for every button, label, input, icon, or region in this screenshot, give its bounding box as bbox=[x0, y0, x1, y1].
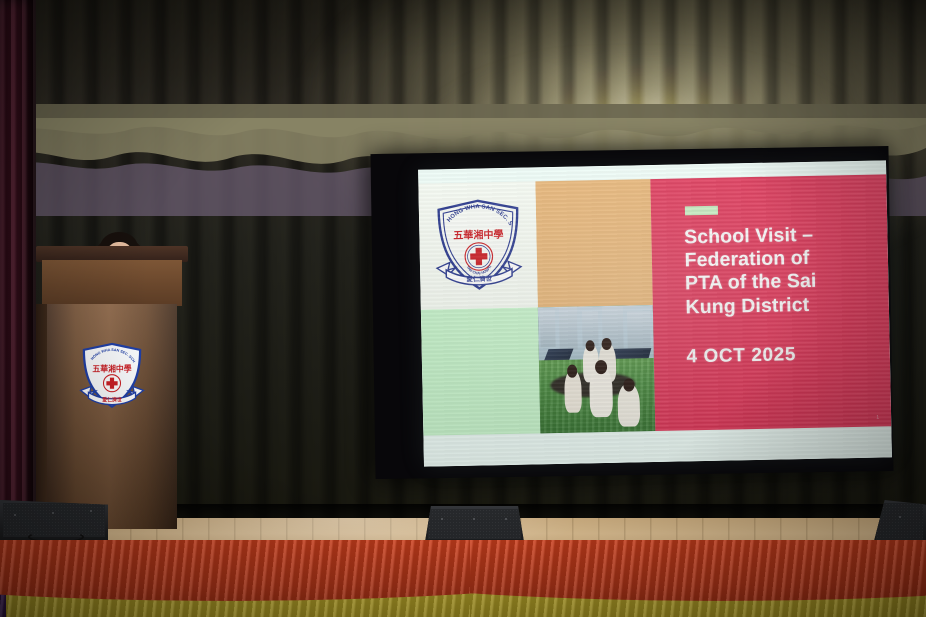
podium: HONG WHA SAN SEC. SCHOOL 五華湘中學 愛仁濟世 bbox=[36, 246, 188, 536]
stage-skirt-drape bbox=[0, 540, 926, 617]
slide-green-block bbox=[421, 307, 541, 435]
stage-monitor-center bbox=[425, 506, 524, 542]
podium-upper-panel bbox=[42, 260, 182, 306]
presentation-slide: HONG WHA SAN SEC. SCHOOL 五華湘中學 YAN CHAI … bbox=[418, 160, 892, 466]
podium-school-crest-icon: HONG WHA SAN SEC. SCHOOL 五華湘中學 愛仁濟世 bbox=[78, 342, 146, 410]
stage-photo-scene: HONG WHA SAN SEC. SCHOOL 五華湘中學 YAN CHAI … bbox=[0, 0, 926, 617]
slide-left-column: HONG WHA SAN SEC. SCHOOL 五華湘中學 YAN CHAI … bbox=[418, 181, 540, 435]
slide-accent-bar bbox=[685, 206, 718, 216]
svg-text:五華湘中學: 五華湘中學 bbox=[453, 228, 503, 242]
slide-title-panel: School Visit –Federation ofPTA of the Sa… bbox=[650, 174, 891, 431]
photo-building bbox=[627, 311, 651, 348]
photo-student-head bbox=[595, 360, 607, 374]
photo-student-head bbox=[567, 365, 578, 378]
slide-middle-column bbox=[535, 179, 655, 433]
projection-screen-surface: HONG WHA SAN SEC. SCHOOL 五華湘中學 YAN CHAI … bbox=[418, 160, 892, 466]
slide-rooftop-photo bbox=[538, 305, 655, 433]
photo-building bbox=[558, 307, 577, 350]
podium-front-panel bbox=[47, 304, 177, 529]
slide-tan-block bbox=[535, 179, 652, 307]
photo-building bbox=[540, 310, 556, 348]
slide-page-number: 1 bbox=[876, 415, 879, 421]
slide-title: School Visit –Federation ofPTA of the Sa… bbox=[684, 223, 879, 320]
svg-text:五華湘中學: 五華湘中學 bbox=[92, 363, 131, 373]
side-curtain-maroon bbox=[0, 0, 36, 545]
school-crest-icon: HONG WHA SAN SEC. SCHOOL 五華湘中學 YAN CHAI … bbox=[431, 197, 525, 294]
photo-student-head bbox=[623, 379, 635, 392]
slide-date: 4 OCT 2025 bbox=[686, 344, 796, 368]
slide-crest-cell: HONG WHA SAN SEC. SCHOOL 五華湘中學 YAN CHAI … bbox=[418, 181, 538, 309]
